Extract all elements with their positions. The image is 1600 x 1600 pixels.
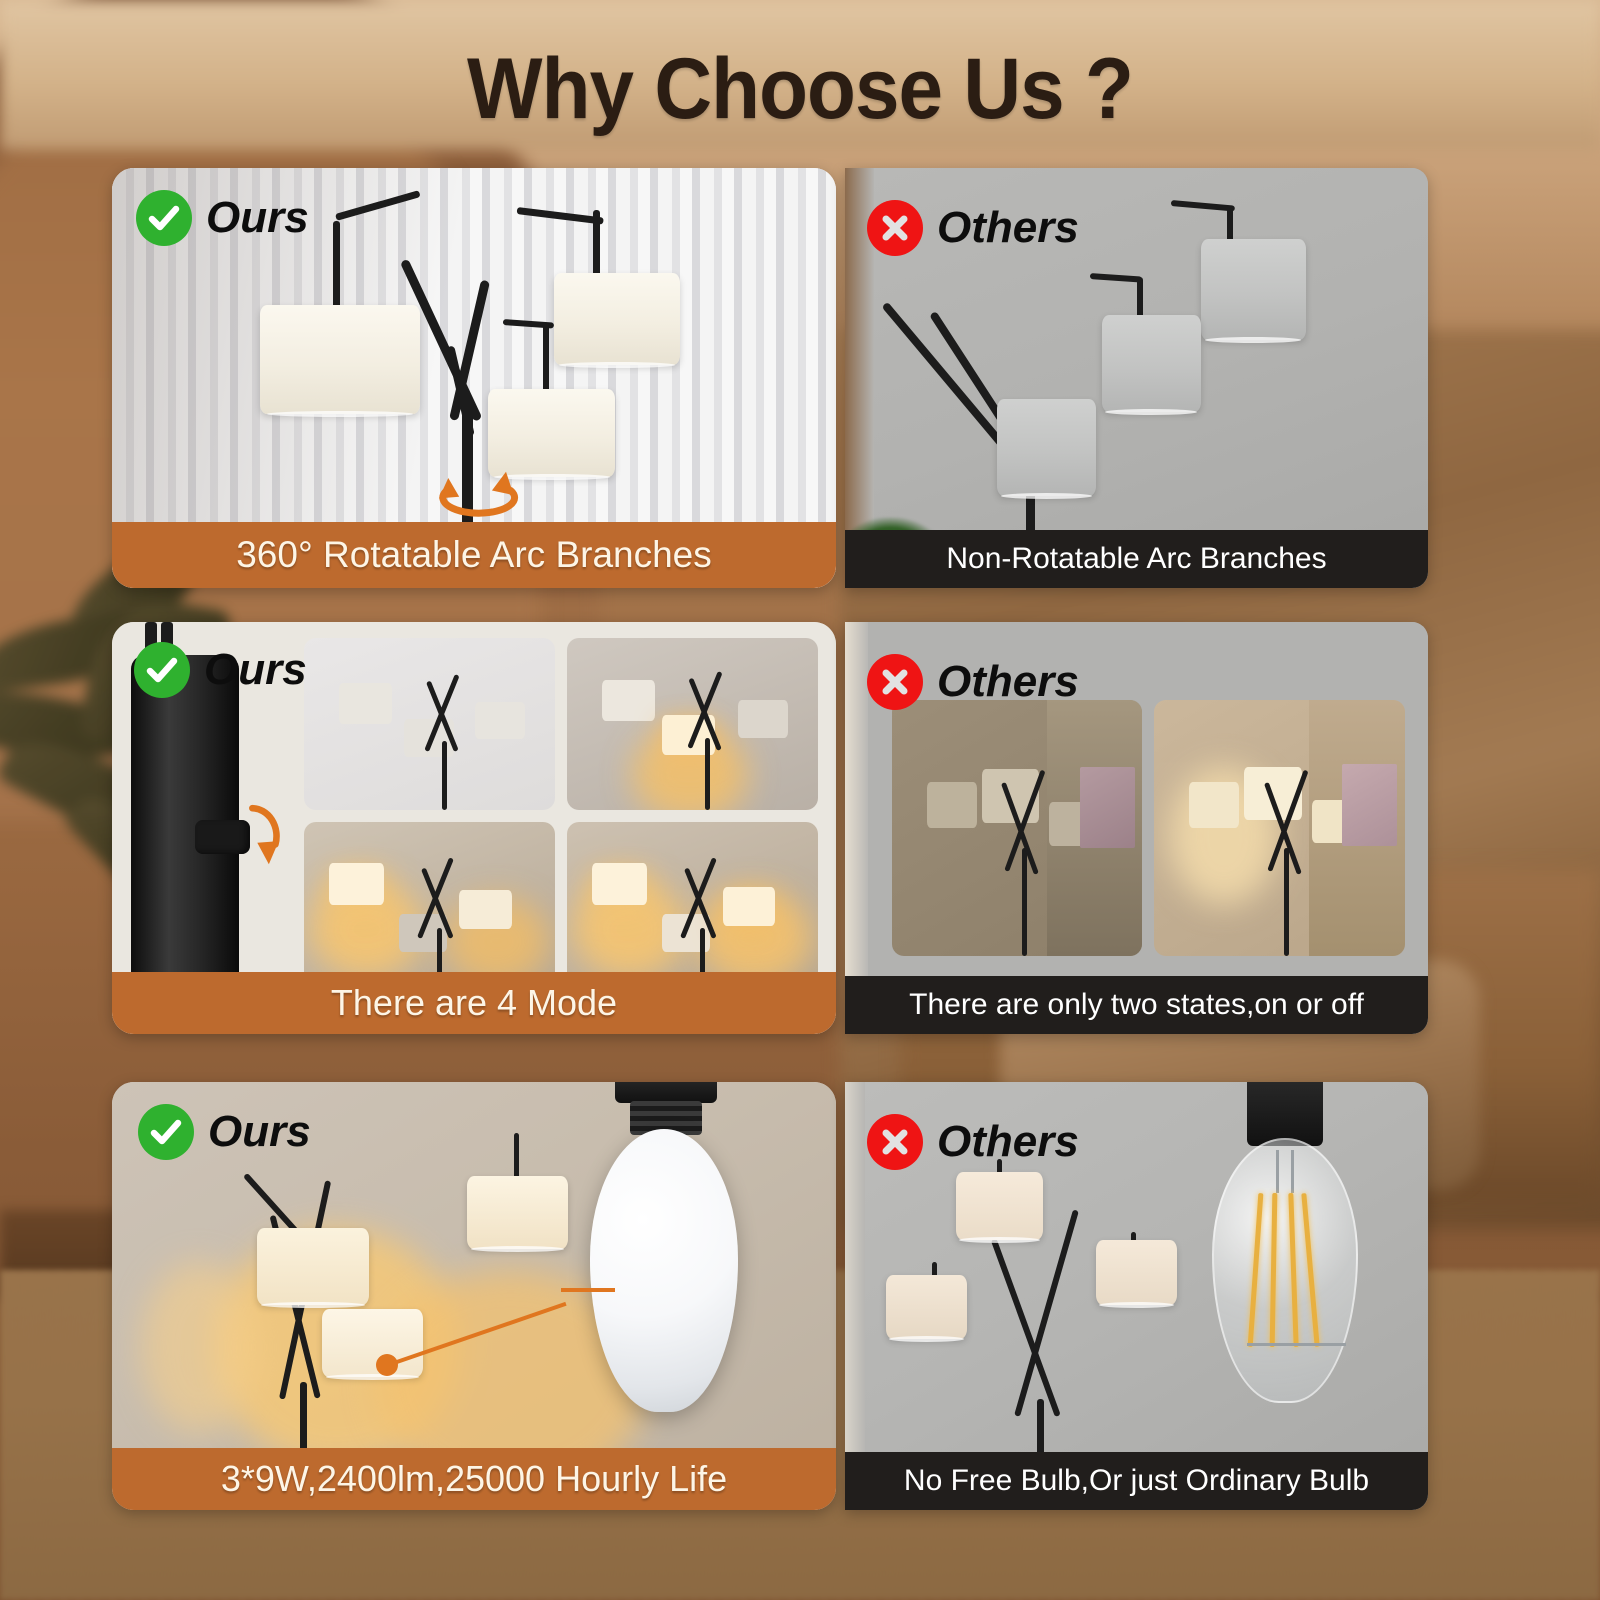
x-circle-icon <box>867 1114 923 1170</box>
ours-card-rotatable[interactable]: Ours 360° Rotatable Arc Branches <box>112 168 836 588</box>
rotation-arrow-icon <box>420 464 536 519</box>
comparison-row-rotatable: Ours 360° Rotatable Arc Branches <box>0 168 1600 588</box>
ours-badge-label: Ours <box>206 196 309 240</box>
ours-caption-modes: There are 4 Mode <box>112 972 836 1034</box>
led-bulb-icon <box>590 1129 738 1411</box>
others-badge: Others <box>867 200 1079 256</box>
mode-thumb-1 <box>304 638 555 809</box>
state-thumbnail-grid <box>892 700 1405 955</box>
ours-badge-label: Ours <box>208 1110 311 1154</box>
state-thumb-off <box>892 700 1143 955</box>
others-badge-label: Others <box>937 206 1079 250</box>
state-thumb-on <box>1154 700 1405 955</box>
led-bulb-base-icon <box>615 1082 716 1103</box>
filament-bulb-icon <box>1212 1138 1358 1403</box>
others-caption-bulb: No Free Bulb,Or just Ordinary Bulb <box>845 1452 1428 1510</box>
others-caption-rotatable: Non-Rotatable Arc Branches <box>845 530 1428 588</box>
others-badge: Others <box>867 1114 1079 1170</box>
ours-badge: Ours <box>138 1104 311 1160</box>
check-circle-icon <box>136 190 192 246</box>
ours-badge: Ours <box>134 642 307 698</box>
check-circle-icon <box>134 642 190 698</box>
check-circle-icon <box>138 1104 194 1160</box>
others-badge-label: Others <box>937 1120 1079 1164</box>
ordinary-bulb-base-icon <box>1247 1082 1323 1146</box>
dimmer-knob-rotate-icon <box>231 795 303 886</box>
mode-thumbnail-grid <box>304 638 818 992</box>
ours-caption-bulb: 3*9W,2400lm,25000 Hourly Life <box>112 1448 836 1510</box>
ours-caption-rotatable: 360° Rotatable Arc Branches <box>112 522 836 588</box>
ours-card-bulb[interactable]: Ours 3*9W,2400lm,25000 Hourly Life <box>112 1082 836 1510</box>
comparison-row-bulb: Ours 3*9W,2400lm,25000 Hourly Life <box>0 1082 1600 1510</box>
comparison-row-modes: Ours There are 4 Mode <box>0 622 1600 1034</box>
others-badge-label: Others <box>937 660 1079 704</box>
ours-card-modes[interactable]: Ours There are 4 Mode <box>112 622 836 1034</box>
x-circle-icon <box>867 200 923 256</box>
others-badge: Others <box>867 654 1079 710</box>
others-card-bulb[interactable]: Others No Free Bulb,Or just Ordinary Bul… <box>845 1082 1428 1510</box>
mode-thumb-4 <box>567 822 818 993</box>
mode-thumb-3 <box>304 822 555 993</box>
others-caption-modes: There are only two states,on or off <box>845 976 1428 1034</box>
mode-thumb-2 <box>567 638 818 809</box>
callout-pointer-icon <box>376 1354 398 1376</box>
others-card-rotatable[interactable]: Others Non-Rotatable Arc Branches <box>845 168 1428 588</box>
ours-badge-label: Ours <box>204 648 307 692</box>
page-title: Why Choose Us ? <box>56 40 1544 139</box>
x-circle-icon <box>867 654 923 710</box>
ours-badge: Ours <box>136 190 309 246</box>
others-card-modes[interactable]: Others There are only two states,on or o… <box>845 622 1428 1034</box>
